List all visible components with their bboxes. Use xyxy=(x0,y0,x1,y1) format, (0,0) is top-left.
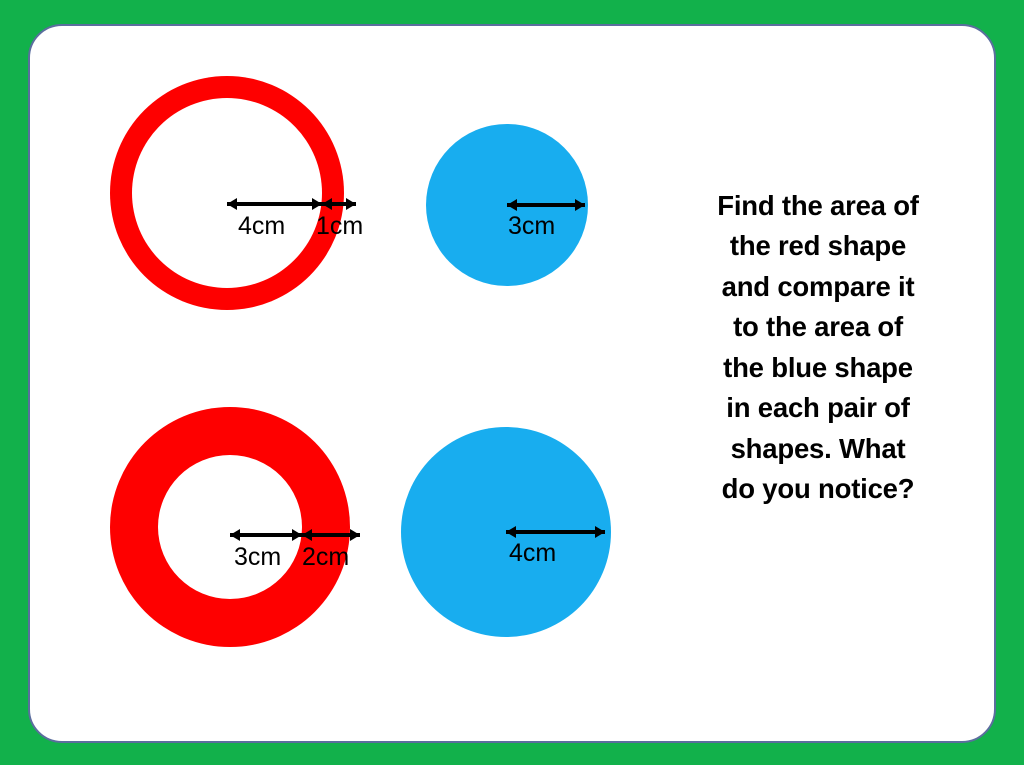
arrow-head-left-icon xyxy=(230,529,240,541)
arrow-head-left-icon xyxy=(322,198,332,210)
pair-2-red-annulus-figure: 3cm 2cm xyxy=(110,407,350,647)
question-line: the red shape xyxy=(678,226,958,266)
pair-1-blue-circle-figure: 3cm xyxy=(426,124,588,286)
question-line: in each pair of xyxy=(678,388,958,428)
question-line: the blue shape xyxy=(678,348,958,388)
question-text-block: Find the area of the red shape and compa… xyxy=(678,186,958,509)
arrow-head-right-icon xyxy=(575,199,585,211)
white-card: 4cm 1cm 3cm xyxy=(28,24,996,743)
pair-2-blue-circle-figure: 4cm xyxy=(401,427,611,637)
arrow-head-left-icon xyxy=(227,198,237,210)
arrow-shaft xyxy=(227,202,322,206)
question-line: do you notice? xyxy=(678,469,958,509)
arrow-head-left-icon xyxy=(506,526,516,538)
question-line: and compare it xyxy=(678,267,958,307)
pair-1-blue-radius-label: 3cm xyxy=(508,214,555,239)
arrow-head-left-icon xyxy=(507,199,517,211)
red-annulus-outer xyxy=(110,407,350,647)
pair-1-red-annulus-figure: 4cm 1cm xyxy=(110,76,344,310)
pair-2-ring-thickness-label: 2cm xyxy=(302,545,349,570)
red-annulus-outer xyxy=(110,76,344,310)
pair-1-inner-radius-label: 4cm xyxy=(238,214,285,239)
arrow-shaft xyxy=(506,530,605,534)
pair-2-blue-radius-label: 4cm xyxy=(509,541,556,566)
pair-2-inner-radius-label: 3cm xyxy=(234,545,281,570)
question-line: shapes. What xyxy=(678,429,958,469)
arrow-head-right-icon xyxy=(292,529,302,541)
arrow-shaft xyxy=(507,203,585,207)
slide-canvas: 4cm 1cm 3cm xyxy=(0,0,1024,765)
arrow-head-right-icon xyxy=(312,198,322,210)
red-annulus-hole xyxy=(158,455,302,599)
arrow-head-right-icon xyxy=(595,526,605,538)
arrow-head-right-icon xyxy=(350,529,360,541)
question-line: Find the area of xyxy=(678,186,958,226)
question-line: to the area of xyxy=(678,307,958,347)
arrow-head-left-icon xyxy=(302,529,312,541)
pair-1-ring-thickness-label: 1cm xyxy=(316,214,363,239)
red-annulus-hole xyxy=(132,98,322,288)
arrow-head-right-icon xyxy=(346,198,356,210)
